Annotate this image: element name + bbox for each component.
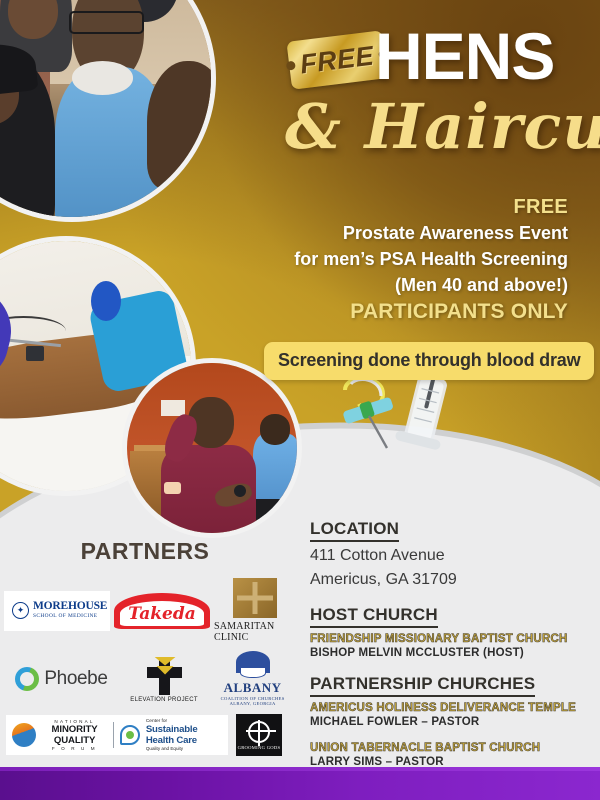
cshc-pin-icon [120, 725, 140, 745]
partnership-churches-block: PARTNERSHIP CHURCHES AMERICUS HOLINESS D… [310, 674, 588, 768]
logo-nmqf-cshc-bar: NATIONAL MINORITY QUALITY F O R U M Cent… [6, 715, 228, 755]
location-block: LOCATION 411 Cotton Avenue Americus, GA … [310, 519, 588, 590]
nmqf-globe-icon [12, 723, 36, 747]
blood-draw-banner: Screening done through blood draw [264, 342, 594, 380]
partner-logos: ✦ MOREHOUSE SCHOOL OF MEDICINE Takeda SA… [4, 578, 296, 756]
logo-phoebe: Phoebe [15, 667, 107, 691]
free-badge-label: FREE [298, 40, 375, 80]
subhead-participants-only: PARTICIPANTS ONLY [294, 300, 568, 324]
flyer: FREE HENS & Haircuts FREE Prostate Aware… [0, 0, 600, 800]
morehouse-subtitle: SCHOOL OF MEDICINE [33, 612, 107, 620]
subhead-block: FREE Prostate Awareness Event for men’s … [294, 196, 568, 324]
host-church-block: HOST CHURCH FRIENDSHIP MISSIONARY BAPTIS… [310, 605, 588, 659]
logo-albany-coalition: ALBANY COALITION OF CHURCHES ALBANY, GEO… [221, 651, 285, 706]
partners-heading: PARTNERS [0, 538, 290, 565]
morehouse-seal-icon: ✦ [12, 602, 29, 619]
photo-attendees [0, 0, 216, 222]
headline-script: & Haircuts [285, 96, 600, 158]
logo-divider [113, 722, 114, 748]
partner-church-1-name: AMERICUS HOLINESS DELIVERANCE TEMPLE [310, 702, 588, 714]
partner-church-1-pastor: MICHAEL FOWLER – PASTOR [310, 716, 588, 728]
albany-church-icon [236, 651, 270, 673]
nmqf-line2: MINORITY QUALITY [42, 724, 107, 746]
event-details: LOCATION 411 Cotton Avenue Americus, GA … [310, 519, 588, 800]
subhead-free: FREE [294, 196, 568, 219]
nmqf-line3: F O R U M [42, 746, 107, 751]
samaritan-cross-icon [233, 578, 277, 618]
elevation-cross-icon [142, 655, 186, 695]
morehouse-name: MOREHOUSE [33, 601, 107, 613]
grooming-gods-mark-icon [248, 721, 270, 743]
photo-participant [122, 358, 302, 538]
cshc-line2: Sustainable Health Care [146, 724, 222, 746]
address-line-1: 411 Cotton Avenue [310, 546, 588, 566]
logo-grooming-gods: GROOMING GODS [236, 714, 282, 756]
location-heading: LOCATION [310, 519, 399, 542]
takeda-name: Takeda [128, 604, 196, 624]
host-church-pastor: BISHOP MELVIN MCCLUSTER (HOST) [310, 647, 588, 659]
logo-elevation-project: ELEVATION PROJECT [130, 655, 198, 703]
partnership-churches-heading: PARTNERSHIP CHURCHES [310, 674, 535, 697]
subhead-line-2: for men’s PSA Health Screening [294, 248, 568, 271]
cshc-line3: Quality and Equity [146, 746, 222, 751]
footer-bar [0, 767, 600, 800]
logo-samaritan-clinic: SAMARITAN CLINIC [214, 578, 296, 643]
elevation-name: ELEVATION PROJECT [130, 697, 198, 703]
phoebe-name: Phoebe [44, 668, 107, 690]
host-church-heading: HOST CHURCH [310, 605, 438, 628]
subhead-line-3: (Men 40 and above!) [294, 274, 568, 297]
phoebe-mark-icon [15, 667, 39, 691]
address-line-2: Americus, GA 31709 [310, 570, 588, 590]
albany-name: ALBANY [224, 680, 282, 696]
host-church-name: FRIENDSHIP MISSIONARY BAPTIST CHURCH [310, 633, 588, 645]
partner-church-2-name: UNION TABERNACLE BAPTIST CHURCH [310, 742, 588, 754]
subhead-line-1: Prostate Awareness Event [294, 222, 568, 245]
headline-primary: HENS [375, 23, 554, 89]
logo-morehouse: ✦ MOREHOUSE SCHOOL OF MEDICINE [4, 591, 110, 631]
samaritan-name: SAMARITAN CLINIC [214, 621, 296, 643]
syringe-icon [337, 372, 497, 482]
logo-takeda: Takeda [110, 589, 214, 633]
albany-location: ALBANY, GEORGIA [230, 701, 276, 706]
